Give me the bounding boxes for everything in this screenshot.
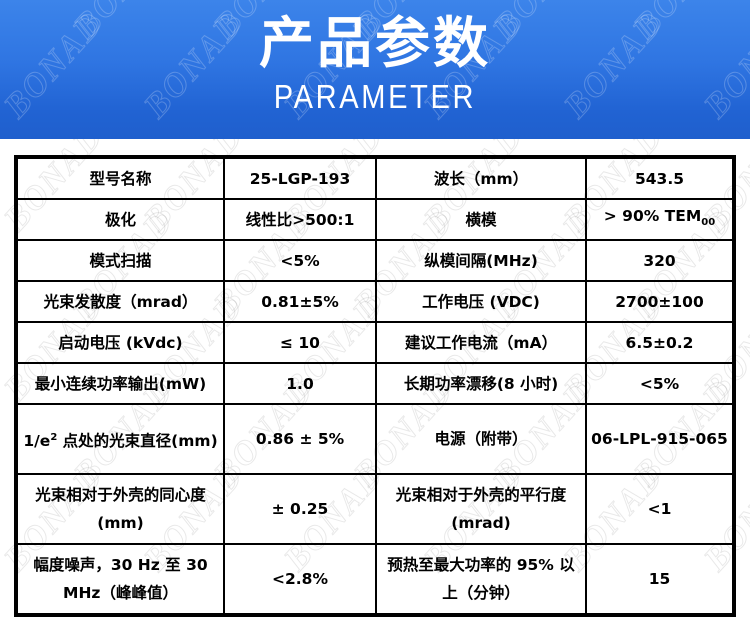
table-row: 启动电压 (kVdc) ≤ 10 建议工作电流（mA） 6.5±0.2 (16, 322, 734, 363)
param-label-right: 波长（mm） (376, 157, 586, 199)
param-label-left: 幅度噪声，30 Hz 至 30 MHz（峰峰值） (16, 544, 224, 615)
param-label-right: 光束相对于外壳的平行度 (mrad) (376, 474, 586, 544)
beam-diameter-post: 点处的光束直径(mm) (57, 432, 217, 450)
page-title: 产品参数 (259, 12, 491, 74)
table-row: 幅度噪声，30 Hz 至 30 MHz（峰峰值） <2.8% 预热至最大功率的 … (16, 544, 734, 615)
spec-table-container: 型号名称 25-LGP-193 波长（mm） 543.5 极化 线性比>500:… (0, 139, 750, 617)
param-value-left: 线性比>500:1 (224, 199, 376, 240)
param-label-right: 横模 (376, 199, 586, 240)
param-label-left: 1/e2 点处的光束直径(mm) (16, 404, 224, 474)
table-row: 极化 线性比>500:1 横模 > 90% TEM00 (16, 199, 734, 240)
table-row: 模式扫描 <5% 纵模间隔(MHz) 320 (16, 240, 734, 281)
param-value-left: 1.0 (224, 363, 376, 404)
table-row: 光束发散度（mrad） 0.81±5% 工作电压 (VDC) 2700±100 (16, 281, 734, 322)
table-row: 型号名称 25-LGP-193 波长（mm） 543.5 (16, 157, 734, 199)
param-value-left: 0.86 ± 5% (224, 404, 376, 474)
param-label-right: 预热至最大功率的 95% 以上（分钟） (376, 544, 586, 615)
param-label-right: 纵模间隔(MHz) (376, 240, 586, 281)
param-label-right: 工作电压 (VDC) (376, 281, 586, 322)
tem-mode-subscript: 00 (701, 217, 715, 228)
param-value-left: ≤ 10 (224, 322, 376, 363)
param-value-right: 2700±100 (586, 281, 734, 322)
param-value-left: <5% (224, 240, 376, 281)
param-label-left: 光束发散度（mrad） (16, 281, 224, 322)
product-parameter-table: 型号名称 25-LGP-193 波长（mm） 543.5 极化 线性比>500:… (14, 155, 736, 617)
param-value-right: 06-LPL-915-065 (586, 404, 734, 474)
param-value-right: 320 (586, 240, 734, 281)
param-value-left: 25-LGP-193 (224, 157, 376, 199)
param-label-left: 型号名称 (16, 157, 224, 199)
param-label-left: 光束相对于外壳的同心度 (mm) (16, 474, 224, 544)
param-value-right: 543.5 (586, 157, 734, 199)
param-label-left: 最小连续功率输出(mW) (16, 363, 224, 404)
table-row: 1/e2 点处的光束直径(mm) 0.86 ± 5% 电源（附带） 06-LPL… (16, 404, 734, 474)
param-label-right: 电源（附带） (376, 404, 586, 474)
param-value-left: <2.8% (224, 544, 376, 615)
tem-mode-text: > 90% TEM (604, 207, 701, 225)
spec-table-body: 型号名称 25-LGP-193 波长（mm） 543.5 极化 线性比>500:… (16, 157, 734, 615)
param-value-left: 0.81±5% (224, 281, 376, 322)
param-label-right: 长期功率漂移(8 小时) (376, 363, 586, 404)
table-row: 光束相对于外壳的同心度 (mm) ± 0.25 光束相对于外壳的平行度 (mra… (16, 474, 734, 544)
param-label-left: 极化 (16, 199, 224, 240)
param-value-right: <5% (586, 363, 734, 404)
param-value-right: 6.5±0.2 (586, 322, 734, 363)
param-label-right: 建议工作电流（mA） (376, 322, 586, 363)
beam-diameter-pre: 1/e (23, 432, 50, 450)
page-subtitle: PARAMETER (274, 78, 476, 116)
page-header-banner: BONAD BONAD BONAD BONAD BONAD BONAD BONA… (0, 0, 750, 139)
param-value-right: 15 (586, 544, 734, 615)
param-value-right: <1 (586, 474, 734, 544)
param-value-left: ± 0.25 (224, 474, 376, 544)
param-value-right: > 90% TEM00 (586, 199, 734, 240)
table-row: 最小连续功率输出(mW) 1.0 长期功率漂移(8 小时) <5% (16, 363, 734, 404)
param-label-left: 模式扫描 (16, 240, 224, 281)
param-label-left: 启动电压 (kVdc) (16, 322, 224, 363)
